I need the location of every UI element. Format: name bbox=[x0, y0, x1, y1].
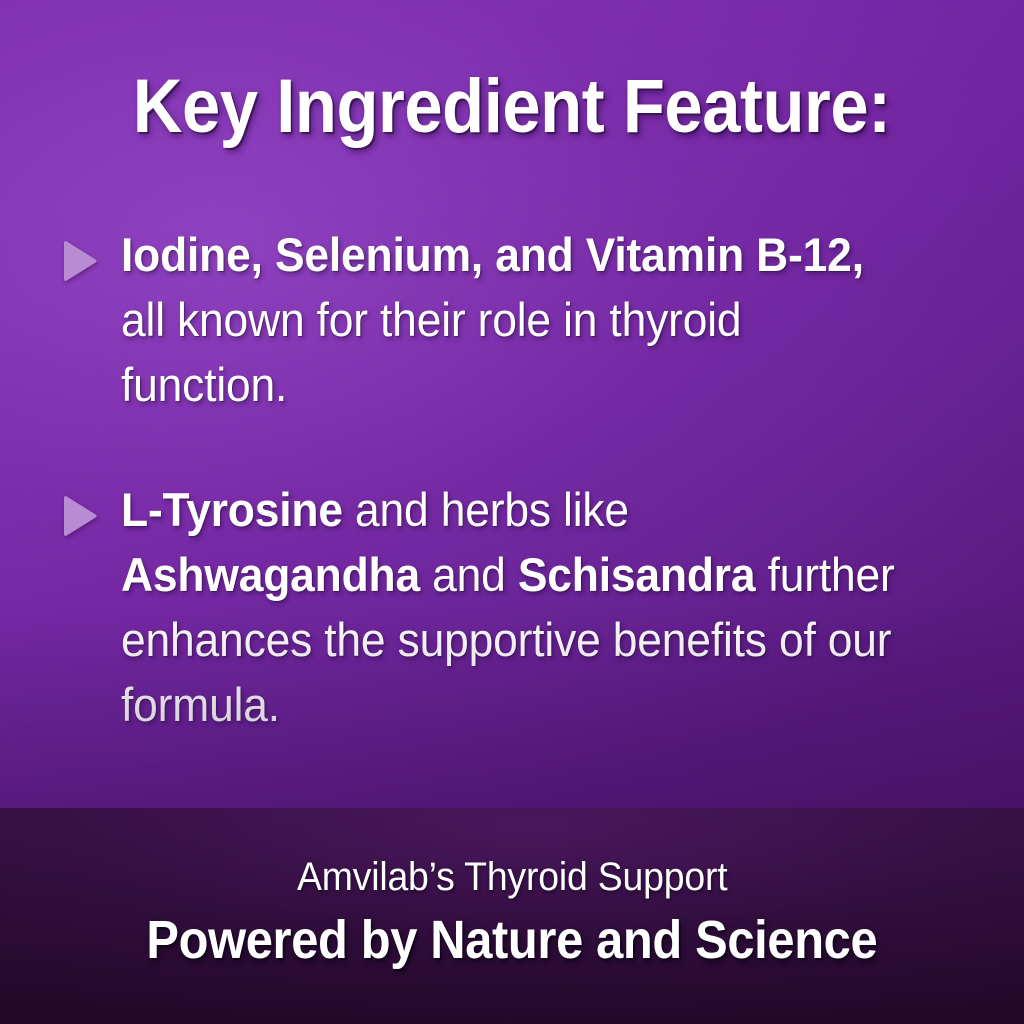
bullet-2-regular-1: and herbs like bbox=[343, 483, 629, 536]
poster-canvas: Key Ingredient Feature: Iodine, Selenium… bbox=[0, 0, 1024, 1024]
footer-band: Amvilab’s Thyroid Support Powered by Nat… bbox=[0, 808, 1024, 1024]
footer-brand-line: Amvilab’s Thyroid Support bbox=[297, 856, 727, 898]
play-triangle-icon bbox=[58, 493, 100, 541]
bullet-1-regular-tail: all known for their role in thyroid func… bbox=[121, 293, 741, 411]
list-item: Iodine, Selenium, and Vitamin B-12, all … bbox=[0, 222, 1024, 417]
page-title-container: Key Ingredient Feature: bbox=[0, 68, 1024, 146]
bullet-2-bold-ltyrosine: L-Tyrosine bbox=[121, 483, 343, 536]
footer-brand-line-container: Amvilab’s Thyroid Support bbox=[0, 856, 1024, 898]
list-item: L-Tyrosine and herbs like Ashwagandha an… bbox=[0, 477, 1024, 737]
bullet-list: Iodine, Selenium, and Vitamin B-12, all … bbox=[0, 222, 1024, 737]
play-triangle-icon bbox=[58, 238, 100, 286]
list-item-text: L-Tyrosine and herbs like Ashwagandha an… bbox=[121, 477, 918, 737]
list-item-text: Iodine, Selenium, and Vitamin B-12, all … bbox=[121, 222, 918, 417]
footer-tagline-container: Powered by Nature and Science bbox=[0, 912, 1024, 969]
hero-panel: Key Ingredient Feature: Iodine, Selenium… bbox=[0, 0, 1024, 808]
bullet-1-bold-lead: Iodine, Selenium, and Vitamin B-12, bbox=[121, 228, 864, 281]
bullet-2-bold-schisandra: Schisandra bbox=[518, 548, 756, 601]
bullet-2-regular-2: and bbox=[420, 548, 518, 601]
footer-tagline: Powered by Nature and Science bbox=[147, 912, 878, 969]
page-title: Key Ingredient Feature: bbox=[133, 68, 891, 146]
bullet-2-bold-ashwagandha: Ashwagandha bbox=[121, 548, 420, 601]
